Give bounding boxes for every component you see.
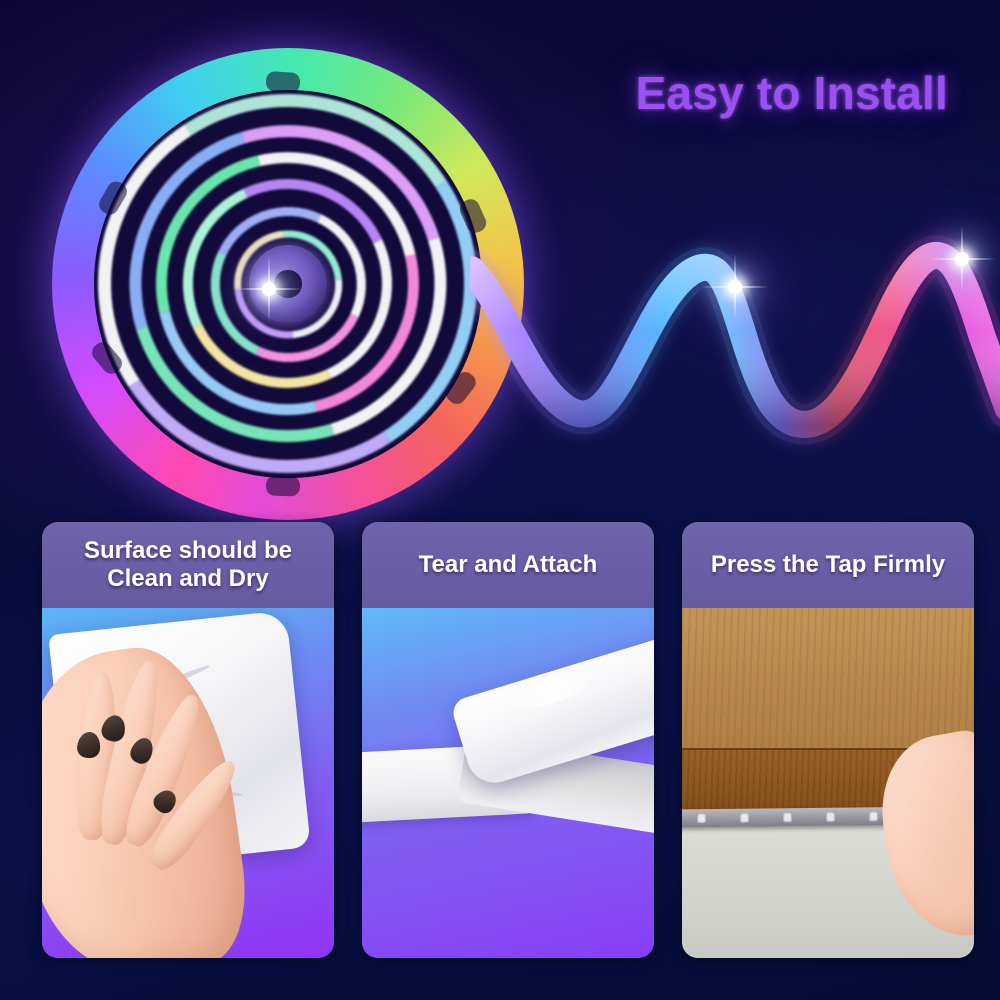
wood-surface-upper xyxy=(682,608,974,748)
pressing-strip-on-wood-image xyxy=(682,608,974,958)
step-card-header: Surface should be Clean and Dry xyxy=(42,522,334,608)
step-card-header: Tear and Attach xyxy=(362,522,654,608)
peeling-adhesive-tape-image xyxy=(362,608,654,958)
led-chip xyxy=(741,812,750,822)
product-poster: Easy to Install xyxy=(0,0,1000,1000)
unwound-led-strip xyxy=(470,212,1000,462)
led-flare-1 xyxy=(262,282,276,296)
hand-wiping-cloth-image xyxy=(42,608,334,958)
rgb-led-strip-reel xyxy=(52,48,524,520)
step-card-title: Surface should be Clean and Dry xyxy=(84,537,292,593)
led-chip xyxy=(784,812,793,822)
led-flare-2 xyxy=(728,280,742,294)
thumb xyxy=(968,783,974,840)
step-card-clean-surface: Surface should be Clean and Dry xyxy=(42,522,334,958)
led-flare-3 xyxy=(955,252,969,266)
step-card-title: Tear and Attach xyxy=(419,551,598,579)
led-chip xyxy=(870,811,879,821)
led-chip xyxy=(698,813,707,823)
led-chip xyxy=(827,811,836,821)
step-card-header: Press the Tap Firmly xyxy=(682,522,974,608)
step-card-press-firmly: Press the Tap Firmly xyxy=(682,522,974,958)
installation-steps: Surface should be Clean and Dry xyxy=(42,522,974,958)
page-title: Easy to Install xyxy=(636,66,948,120)
reel-slot-4 xyxy=(266,475,301,496)
reel-coil-area xyxy=(94,90,481,477)
reel-hub-hole xyxy=(274,270,301,297)
step-card-title: Press the Tap Firmly xyxy=(711,551,945,579)
reel-slot-1 xyxy=(265,71,300,93)
reel-rim xyxy=(52,48,524,520)
step-card-tear-attach: Tear and Attach xyxy=(362,522,654,958)
